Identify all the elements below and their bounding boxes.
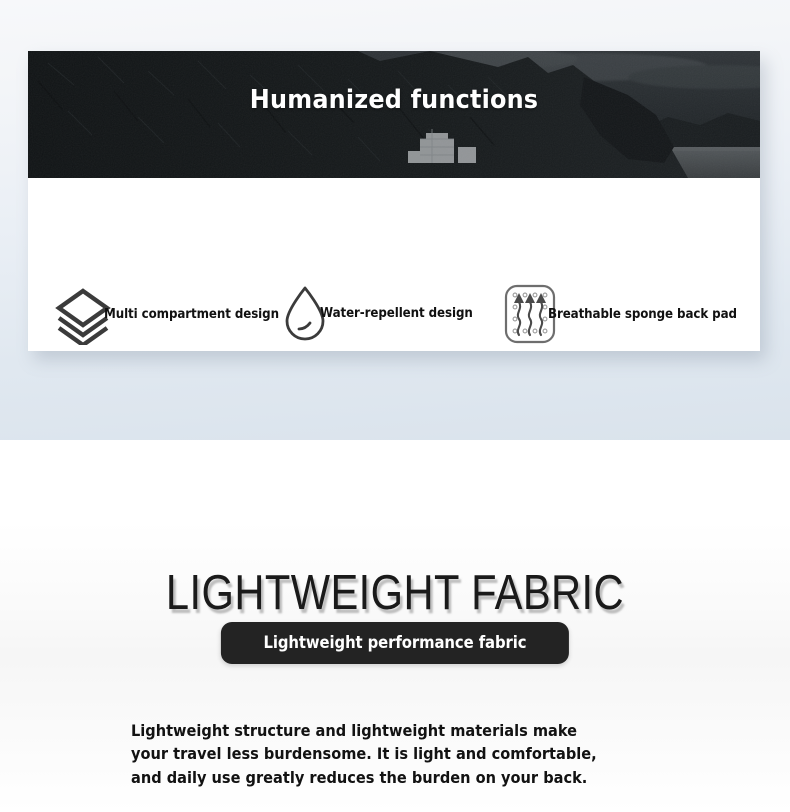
feature-item-breathable-pad: Breathable sponge back pad	[502, 283, 758, 345]
feature-item-water-repellent: Water-repellent design	[280, 283, 490, 343]
feature-label: Breathable sponge back pad	[548, 307, 737, 322]
fabric-title: LIGHTWEIGHT FABRIC	[59, 569, 731, 618]
fabric-pill-label: Lightweight performance fabric	[264, 633, 527, 652]
fabric-pill-badge: Lightweight performance fabric	[221, 622, 569, 664]
product-detail-page: Humanized functions Multi com	[0, 0, 790, 812]
feature-card: Humanized functions Multi com	[28, 51, 760, 351]
feature-label: Multi compartment design	[104, 307, 279, 322]
feature-label: Water-repellent design	[320, 306, 473, 321]
feature-banner: Humanized functions	[28, 51, 760, 178]
feature-item-multi-compartment: Multi compartment design	[52, 283, 298, 345]
feature-row: Multi compartment design Water-repellent…	[28, 178, 760, 351]
fabric-description: Lightweight structure and lightweight ma…	[131, 719, 671, 788]
humanized-functions-section: Humanized functions Multi com	[0, 0, 790, 440]
fabric-description-text: Lightweight structure and lightweight ma…	[131, 719, 614, 788]
banner-title: Humanized functions	[57, 85, 730, 115]
